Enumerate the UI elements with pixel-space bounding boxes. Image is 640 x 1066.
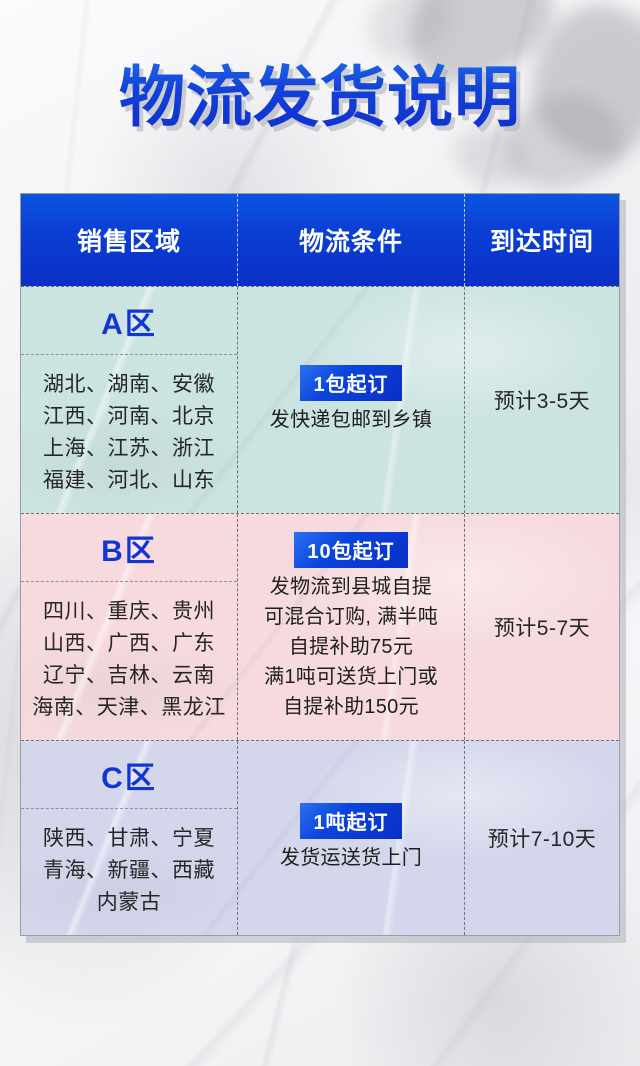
column-header-region: 销售区域 (21, 194, 238, 286)
column-header-logistics: 物流条件 (238, 194, 465, 286)
province-line: 湖北、湖南、安徽 (21, 369, 237, 401)
table-row: C区 陕西、甘肃、宁夏 青海、新疆、西藏 内蒙古 1吨起订 发货运送货上门 预计… (21, 740, 619, 935)
minimum-order-badge: 1包起订 (300, 365, 401, 401)
zone-label: C区 (21, 741, 237, 809)
province-line: 海南、天津、黑龙江 (21, 692, 237, 724)
logistics-cell: 10包起订 发物流到县城自提 可混合订购, 满半吨 自提补助75元 满1吨可送货… (238, 514, 465, 740)
condition-line: 自提补助150元 (283, 692, 419, 722)
arrival-time-cell: 预计3-5天 (465, 287, 619, 513)
column-header-arrival: 到达时间 (465, 194, 619, 286)
province-list: 湖北、湖南、安徽 江西、河南、北京 上海、江苏、浙江 福建、河北、山东 (21, 355, 237, 513)
region-cell: A区 湖北、湖南、安徽 江西、河南、北京 上海、江苏、浙江 福建、河北、山东 (21, 287, 238, 513)
arrival-time-cell: 预计5-7天 (465, 514, 619, 740)
table-row: A区 湖北、湖南、安徽 江西、河南、北京 上海、江苏、浙江 福建、河北、山东 1… (21, 286, 619, 513)
logistics-cell: 1包起订 发快递包邮到乡镇 (238, 287, 465, 513)
province-line: 陕西、甘肃、宁夏 (21, 823, 237, 855)
province-line: 江西、河南、北京 (21, 401, 237, 433)
province-line: 四川、重庆、贵州 (21, 596, 237, 628)
logistics-cell: 1吨起订 发货运送货上门 (238, 741, 465, 935)
table-header-row: 销售区域 物流条件 到达时间 (21, 194, 619, 286)
condition-line: 发物流到县城自提 (270, 572, 432, 602)
shipping-info-table: 销售区域 物流条件 到达时间 A区 湖北、湖南、安徽 江西、河南、北京 上海、江… (20, 193, 620, 936)
province-line: 上海、江苏、浙江 (21, 433, 237, 465)
condition-line: 满1吨可送货上门或 (264, 662, 438, 692)
region-cell: B区 四川、重庆、贵州 山西、广西、广东 辽宁、吉林、云南 海南、天津、黑龙江 (21, 514, 238, 740)
table-row: B区 四川、重庆、贵州 山西、广西、广东 辽宁、吉林、云南 海南、天津、黑龙江 … (21, 513, 619, 740)
minimum-order-badge: 1吨起订 (300, 803, 401, 839)
province-line: 山西、广西、广东 (21, 628, 237, 660)
province-line: 内蒙古 (21, 887, 237, 919)
province-list: 四川、重庆、贵州 山西、广西、广东 辽宁、吉林、云南 海南、天津、黑龙江 (21, 582, 237, 740)
province-line: 福建、河北、山东 (21, 465, 237, 497)
condition-line: 自提补助75元 (289, 632, 413, 662)
zone-label: A区 (21, 287, 237, 355)
condition-line: 发货运送货上门 (280, 843, 422, 873)
arrival-time-cell: 预计7-10天 (465, 741, 619, 935)
condition-line: 可混合订购, 满半吨 (264, 602, 438, 632)
region-cell: C区 陕西、甘肃、宁夏 青海、新疆、西藏 内蒙古 (21, 741, 238, 935)
province-line: 青海、新疆、西藏 (21, 855, 237, 887)
condition-line: 发快递包邮到乡镇 (270, 405, 432, 435)
zone-label: B区 (21, 514, 237, 582)
province-line: 辽宁、吉林、云南 (21, 660, 237, 692)
minimum-order-badge: 10包起订 (294, 532, 407, 568)
province-list: 陕西、甘肃、宁夏 青海、新疆、西藏 内蒙古 (21, 809, 237, 935)
page-title: 物流发货说明 (0, 56, 640, 138)
